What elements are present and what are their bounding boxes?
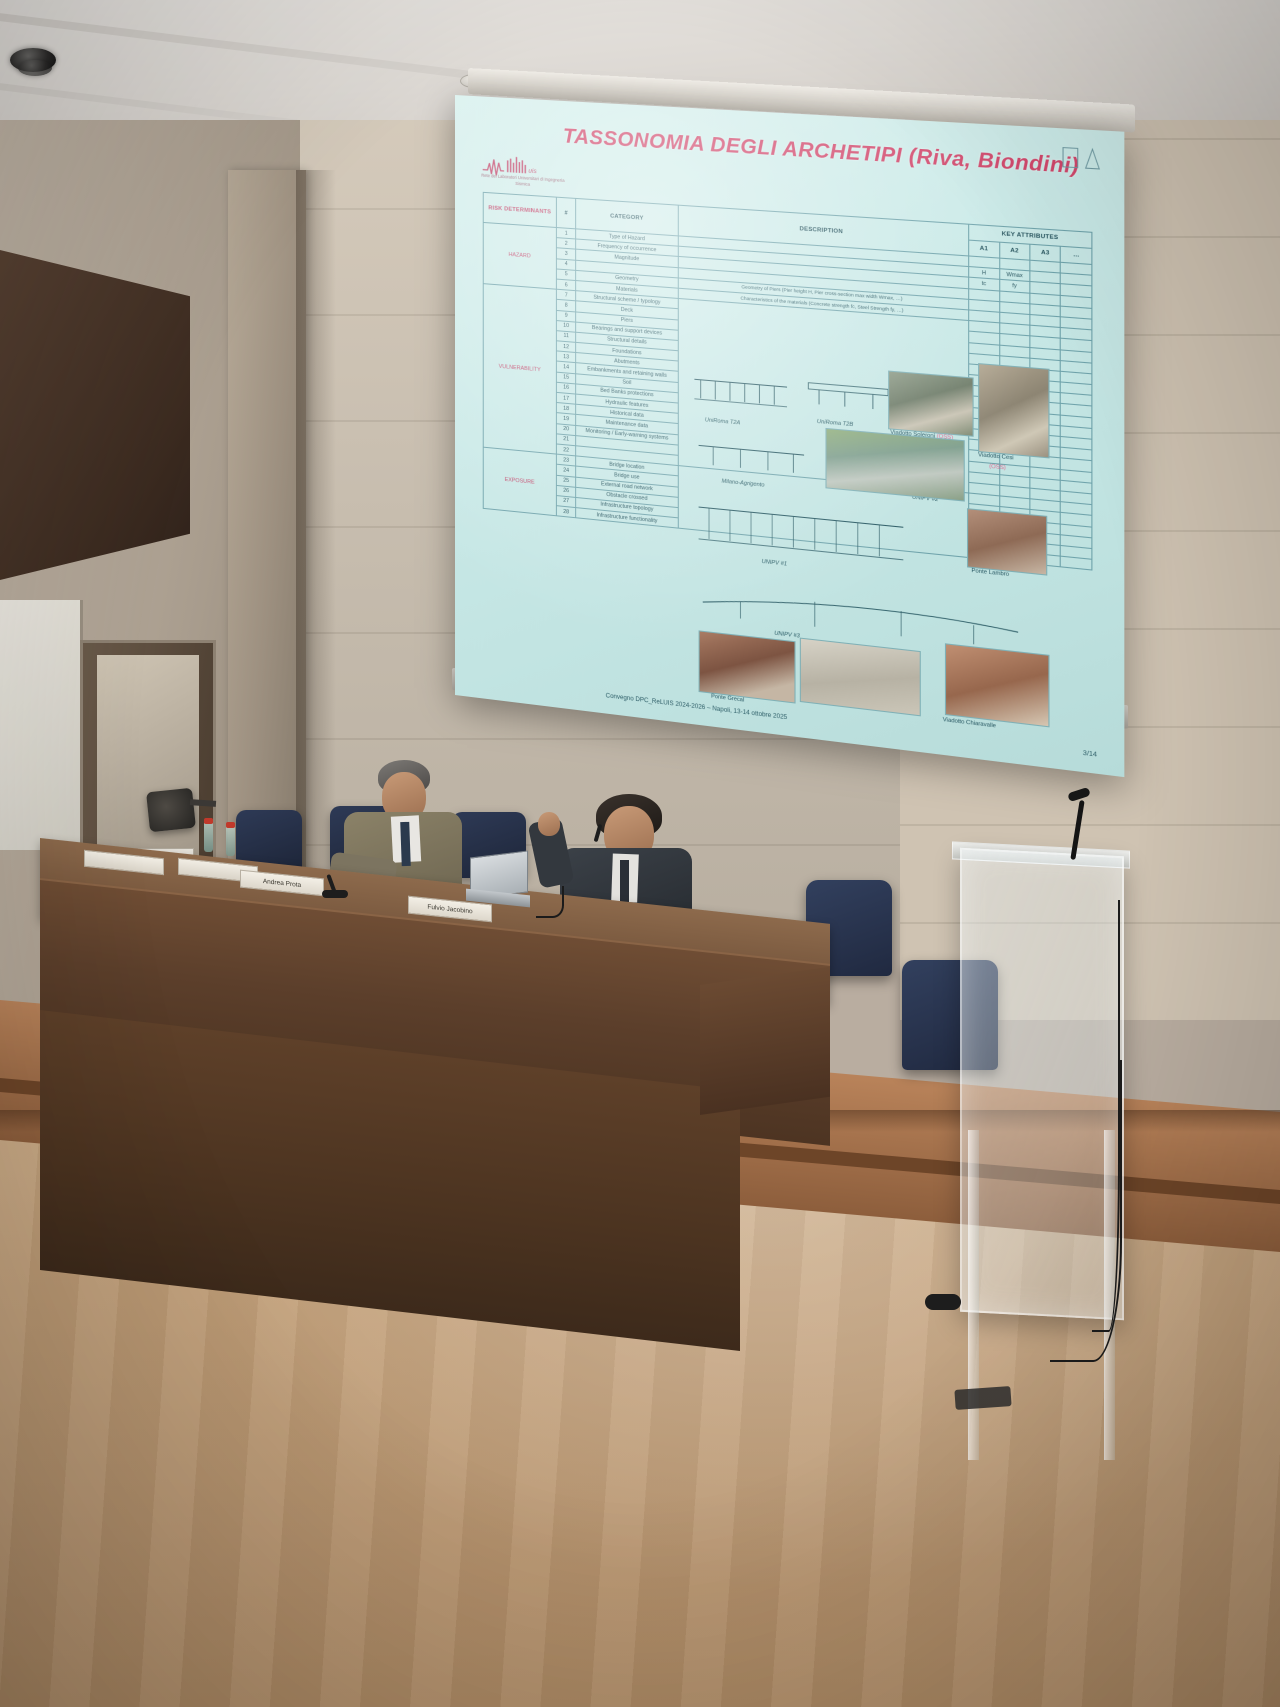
cell-a-more — [1061, 556, 1092, 570]
ceiling-downlight-2 — [18, 60, 52, 76]
bridge-sketch-uniroma-t2b — [802, 372, 895, 422]
left-window — [0, 600, 83, 850]
pillar-shadow — [296, 170, 336, 870]
speaker-hand — [538, 812, 560, 836]
presentation-slide: uis Rete dei Laboratori Universitari di … — [455, 95, 1124, 777]
podium-leg-left — [968, 1130, 979, 1460]
group-label-hazard: HAZARD — [483, 222, 556, 289]
table-microphone-1-base — [322, 890, 348, 898]
group-label-vulnerability: VULNERABILITY — [483, 284, 556, 454]
svg-text:uis: uis — [528, 167, 537, 175]
university-crest-icon — [1061, 143, 1102, 173]
moderator-tie — [400, 822, 411, 866]
wall-pillar — [228, 170, 306, 870]
cable-1 — [536, 886, 564, 918]
cell-num: 28 — [556, 506, 576, 518]
figure-photo-viadotto-soleroni — [888, 371, 974, 437]
podium-cable-2 — [1092, 900, 1120, 1332]
figure-photo-viadotto-chiaravalle — [945, 643, 1050, 727]
water-bottle — [204, 822, 213, 852]
wall-speaker-icon — [146, 788, 196, 833]
figure-photo-ponte-lambro — [967, 508, 1047, 575]
speaker-tie — [620, 860, 629, 906]
bridge-sketch-uniroma-t2a — [690, 367, 791, 421]
panel-table-right-return — [700, 967, 830, 1115]
nameplate-text: Fulvio Jacobino — [427, 903, 472, 915]
th-num: # — [556, 197, 576, 229]
projection-screen: uis Rete dei Laboratori Universitari di … — [455, 95, 1124, 777]
figure-label-unipv-1: UNIPV #1 — [762, 559, 787, 568]
slide-title: TASSONOMIA DEGLI ARCHETIPI (Riva, Biondi… — [563, 125, 1079, 179]
conference-room-photo: uis Rete dei Laboratori Universitari di … — [0, 0, 1280, 1707]
figure-photo-viadotto-cesi — [978, 363, 1049, 458]
left-wall-dark-panel — [0, 250, 190, 580]
bottle-cap — [204, 818, 213, 824]
floor-power-outlet — [954, 1386, 1011, 1410]
nameplate-text: Andrea Prota — [263, 877, 301, 888]
bottle-cap-2 — [226, 822, 235, 828]
figure-photo-ponte-grecal — [699, 630, 796, 703]
figure-photo-unipv-5 — [800, 638, 921, 717]
floor-mic-box — [925, 1294, 961, 1310]
slide-page-number: 3/14 — [1083, 750, 1097, 759]
group-label-exposure: EXPOSURE — [483, 447, 556, 516]
water-bottle-2 — [226, 826, 235, 856]
